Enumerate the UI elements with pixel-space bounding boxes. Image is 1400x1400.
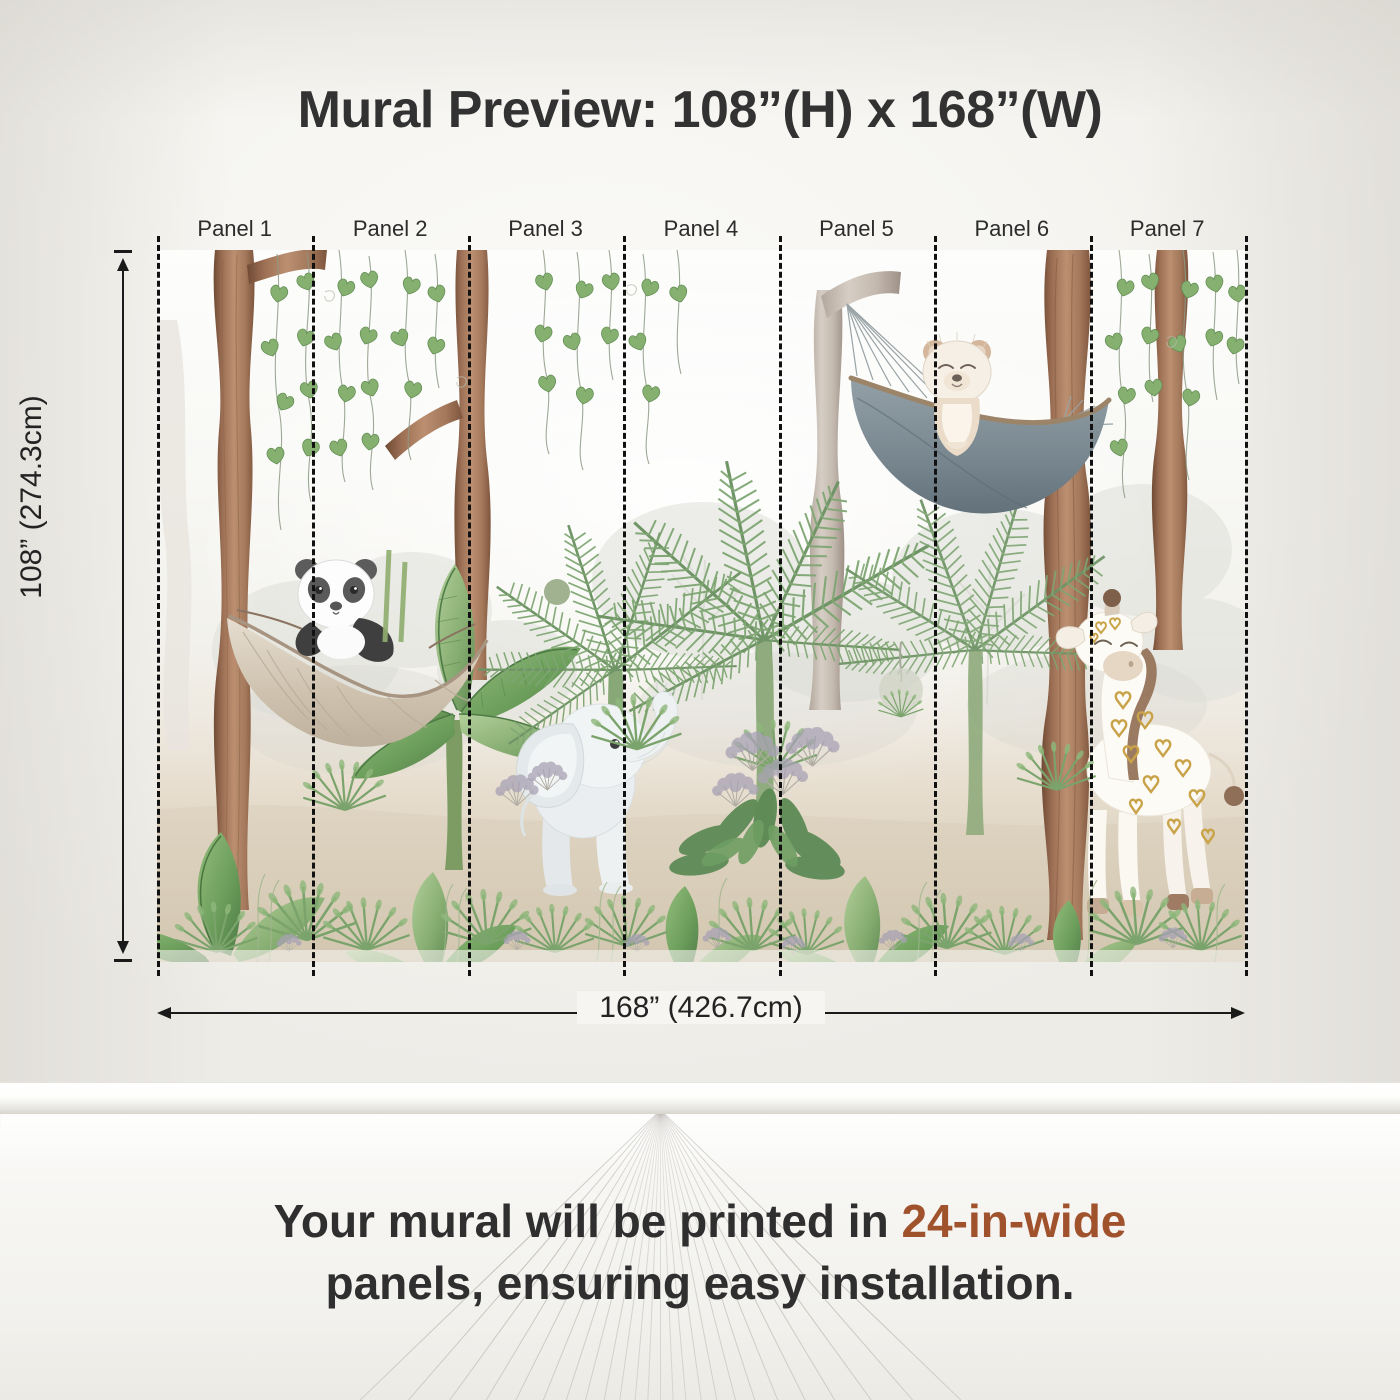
height-cap-top <box>114 250 132 253</box>
panel-label-3: Panel 3 <box>468 212 623 246</box>
width-dimension-text: 168” (426.7cm) <box>577 991 824 1024</box>
footer-line-1-prefix: Your mural will be printed in <box>274 1195 902 1247</box>
mural-artwork <box>157 250 1245 962</box>
panel-label-6: Panel 6 <box>934 212 1089 246</box>
panel-divider-2 <box>468 236 471 976</box>
panel-divider-3 <box>623 236 626 976</box>
width-dimension-label: 168” (426.7cm) <box>157 991 1245 1025</box>
footer-note: Your mural will be printed in 24-in-wide… <box>0 1190 1400 1314</box>
panel-label-1: Panel 1 <box>157 212 312 246</box>
height-arrow-up-icon <box>117 258 129 271</box>
height-dimension-label: 108” (274.3cm) <box>15 297 49 697</box>
footer-line-1: Your mural will be printed in 24-in-wide <box>0 1190 1400 1252</box>
panel-divider-5 <box>934 236 937 976</box>
panel-divider-1 <box>312 236 315 976</box>
panel-divider-0 <box>157 236 160 976</box>
panel-divider-6 <box>1090 236 1093 976</box>
height-arrow-down-icon <box>117 941 129 954</box>
baseboard <box>0 1082 1400 1114</box>
height-dimension-arrow <box>114 250 132 962</box>
panel-label-2: Panel 2 <box>312 212 467 246</box>
panel-label-5: Panel 5 <box>779 212 934 246</box>
panel-divider-4 <box>779 236 782 976</box>
height-cap-bottom <box>114 959 132 962</box>
panel-label-row: Panel 1 Panel 2 Panel 3 Panel 4 Panel 5 … <box>157 212 1245 246</box>
panel-divider-7 <box>1245 236 1248 976</box>
panel-label-4: Panel 4 <box>623 212 778 246</box>
footer-accent-text: 24-in-wide <box>901 1195 1126 1247</box>
footer-line-2: panels, ensuring easy installation. <box>0 1252 1400 1314</box>
page-title: Mural Preview: 108”(H) x 168”(W) <box>0 80 1400 140</box>
height-line <box>122 260 124 952</box>
panel-label-7: Panel 7 <box>1090 212 1245 246</box>
mural-preview-page: Mural Preview: 108”(H) x 168”(W) Panel 1… <box>0 0 1400 1400</box>
